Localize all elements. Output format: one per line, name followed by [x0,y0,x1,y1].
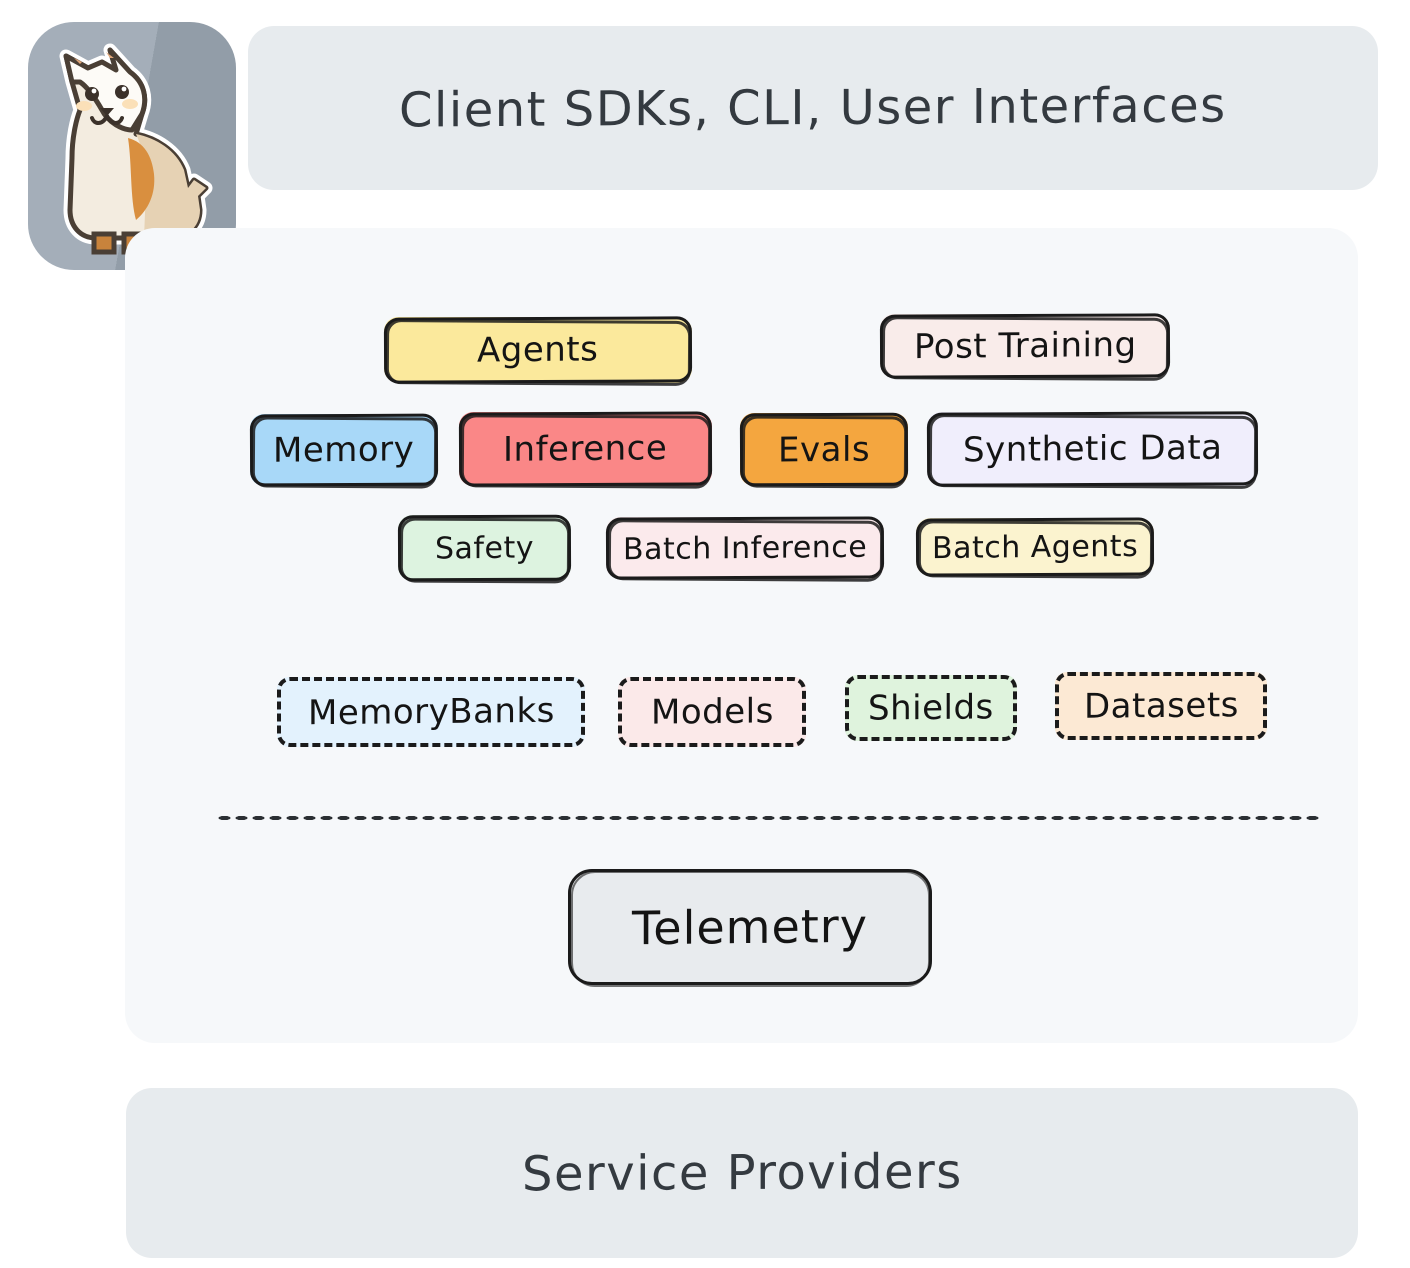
api-node-evals-label: Evals [778,429,870,470]
api-node-safety[interactable]: Safety [398,515,571,581]
api-node-agents-label: Agents [477,329,598,370]
resource-node-shields-label: Shields [868,687,994,728]
telemetry-node[interactable]: Telemetry [568,869,932,985]
api-node-inference[interactable]: Inference [459,412,712,486]
resource-node-models[interactable]: Models [618,677,806,747]
api-node-synthetic-data[interactable]: Synthetic Data [927,412,1258,486]
header-banner: Client SDKs, CLI, User Interfaces [248,26,1378,190]
api-node-agents[interactable]: Agents [384,317,692,383]
resource-node-shields[interactable]: Shields [845,675,1017,741]
resource-node-models-label: Models [651,691,774,732]
api-node-post-training-label: Post Training [914,325,1137,367]
resource-node-datasets-label: Datasets [1084,685,1239,727]
header-label: Client SDKs, CLI, User Interfaces [399,77,1227,138]
api-node-batch-agents[interactable]: Batch Agents [916,518,1154,576]
footer-banner: Service Providers [126,1088,1358,1258]
api-node-synthetic-data-label: Synthetic Data [963,428,1223,471]
api-node-post-training[interactable]: Post Training [880,314,1170,378]
resource-node-memorybanks-label: MemoryBanks [308,691,555,734]
resource-node-datasets[interactable]: Datasets [1055,672,1267,740]
llama-icon [36,38,226,258]
diagram-canvas: Client SDKs, CLI, User Interfaces [0,0,1410,1268]
api-node-batch-inference-label: Batch Inference [623,529,867,567]
api-node-safety-label: Safety [435,530,534,566]
telemetry-node-label: Telemetry [632,899,868,955]
api-node-batch-inference[interactable]: Batch Inference [606,517,884,579]
api-node-batch-agents-label: Batch Agents [932,528,1138,565]
dotted-divider [216,815,1321,821]
api-node-inference-label: Inference [503,428,667,470]
api-node-memory-label: Memory [273,429,414,470]
footer-label: Service Providers [522,1144,963,1203]
resource-node-memorybanks[interactable]: MemoryBanks [277,677,585,747]
api-node-evals[interactable]: Evals [740,413,908,486]
api-node-memory[interactable]: Memory [250,414,438,486]
